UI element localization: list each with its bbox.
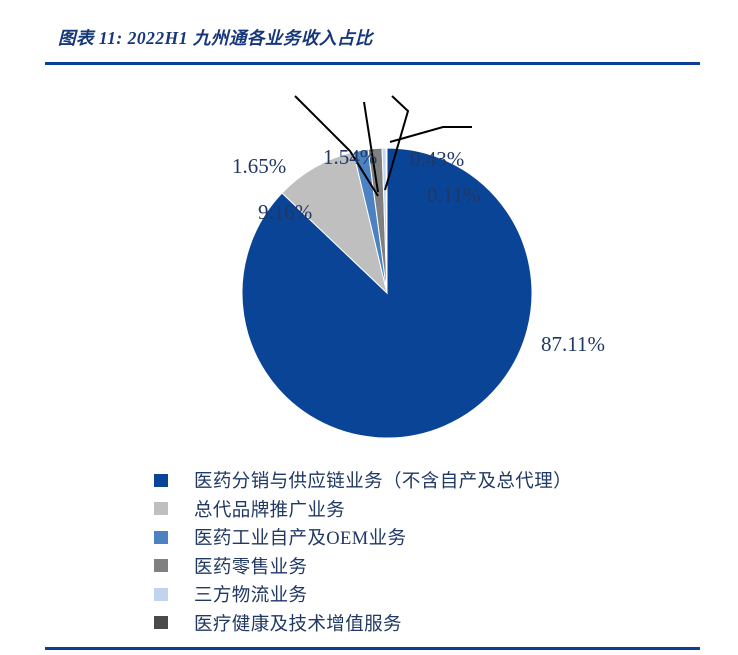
legend-swatch-icon-3 [154,559,168,572]
figure-title: 图表 11: 2022H1 九州通各业务收入占比 [58,25,373,50]
legend-label-0: 医药分销与供应链业务（不含自产及总代理） [194,467,572,493]
legend-swatch-icon-0 [154,474,168,487]
legend-swatch-icon-2 [154,531,168,544]
legend-item-1[interactable]: 总代品牌推广业务 [154,495,654,524]
title-divider-top [45,62,700,65]
legend-item-2[interactable]: 医药工业自产及OEM业务 [154,523,654,552]
pie-slice-group [242,148,532,438]
slice-label-0-11: 0.11% [427,183,480,208]
legend-item-3[interactable]: 医药零售业务 [154,552,654,581]
legend-swatch-icon-1 [154,502,168,515]
slice-label-0-43: 0.43% [410,147,464,172]
chart-legend: 医药分销与供应链业务（不含自产及总代理）总代品牌推广业务医药工业自产及OEM业务… [154,466,654,637]
legend-label-2: 医药工业自产及OEM业务 [194,524,406,550]
legend-item-4[interactable]: 三方物流业务 [154,580,654,609]
slice-label-87-11: 87.11% [541,332,605,357]
pie-chart: 1.65% 1.54% 0.43% 0.11% 9.16% 87.11% [0,66,738,456]
legend-swatch-icon-4 [154,588,168,601]
legend-item-0[interactable]: 医药分销与供应链业务（不含自产及总代理） [154,466,654,495]
legend-label-4: 三方物流业务 [194,581,307,607]
legend-label-5: 医疗健康及技术增值服务 [194,610,402,636]
legend-label-1: 总代品牌推广业务 [194,496,345,522]
legend-label-3: 医药零售业务 [194,553,307,579]
legend-item-5[interactable]: 医疗健康及技术增值服务 [154,609,654,638]
slice-label-1-65: 1.65% [232,154,286,179]
pie-chart-svg [0,66,738,456]
legend-swatch-icon-5 [154,616,168,629]
slice-label-9-16: 9.16% [258,200,312,225]
slice-label-1-54: 1.54% [323,145,377,170]
figure-divider-bottom [45,647,700,650]
figure-container: 图表 11: 2022H1 九州通各业务收入占比 1.65% 1.54% 0.4… [0,0,738,655]
